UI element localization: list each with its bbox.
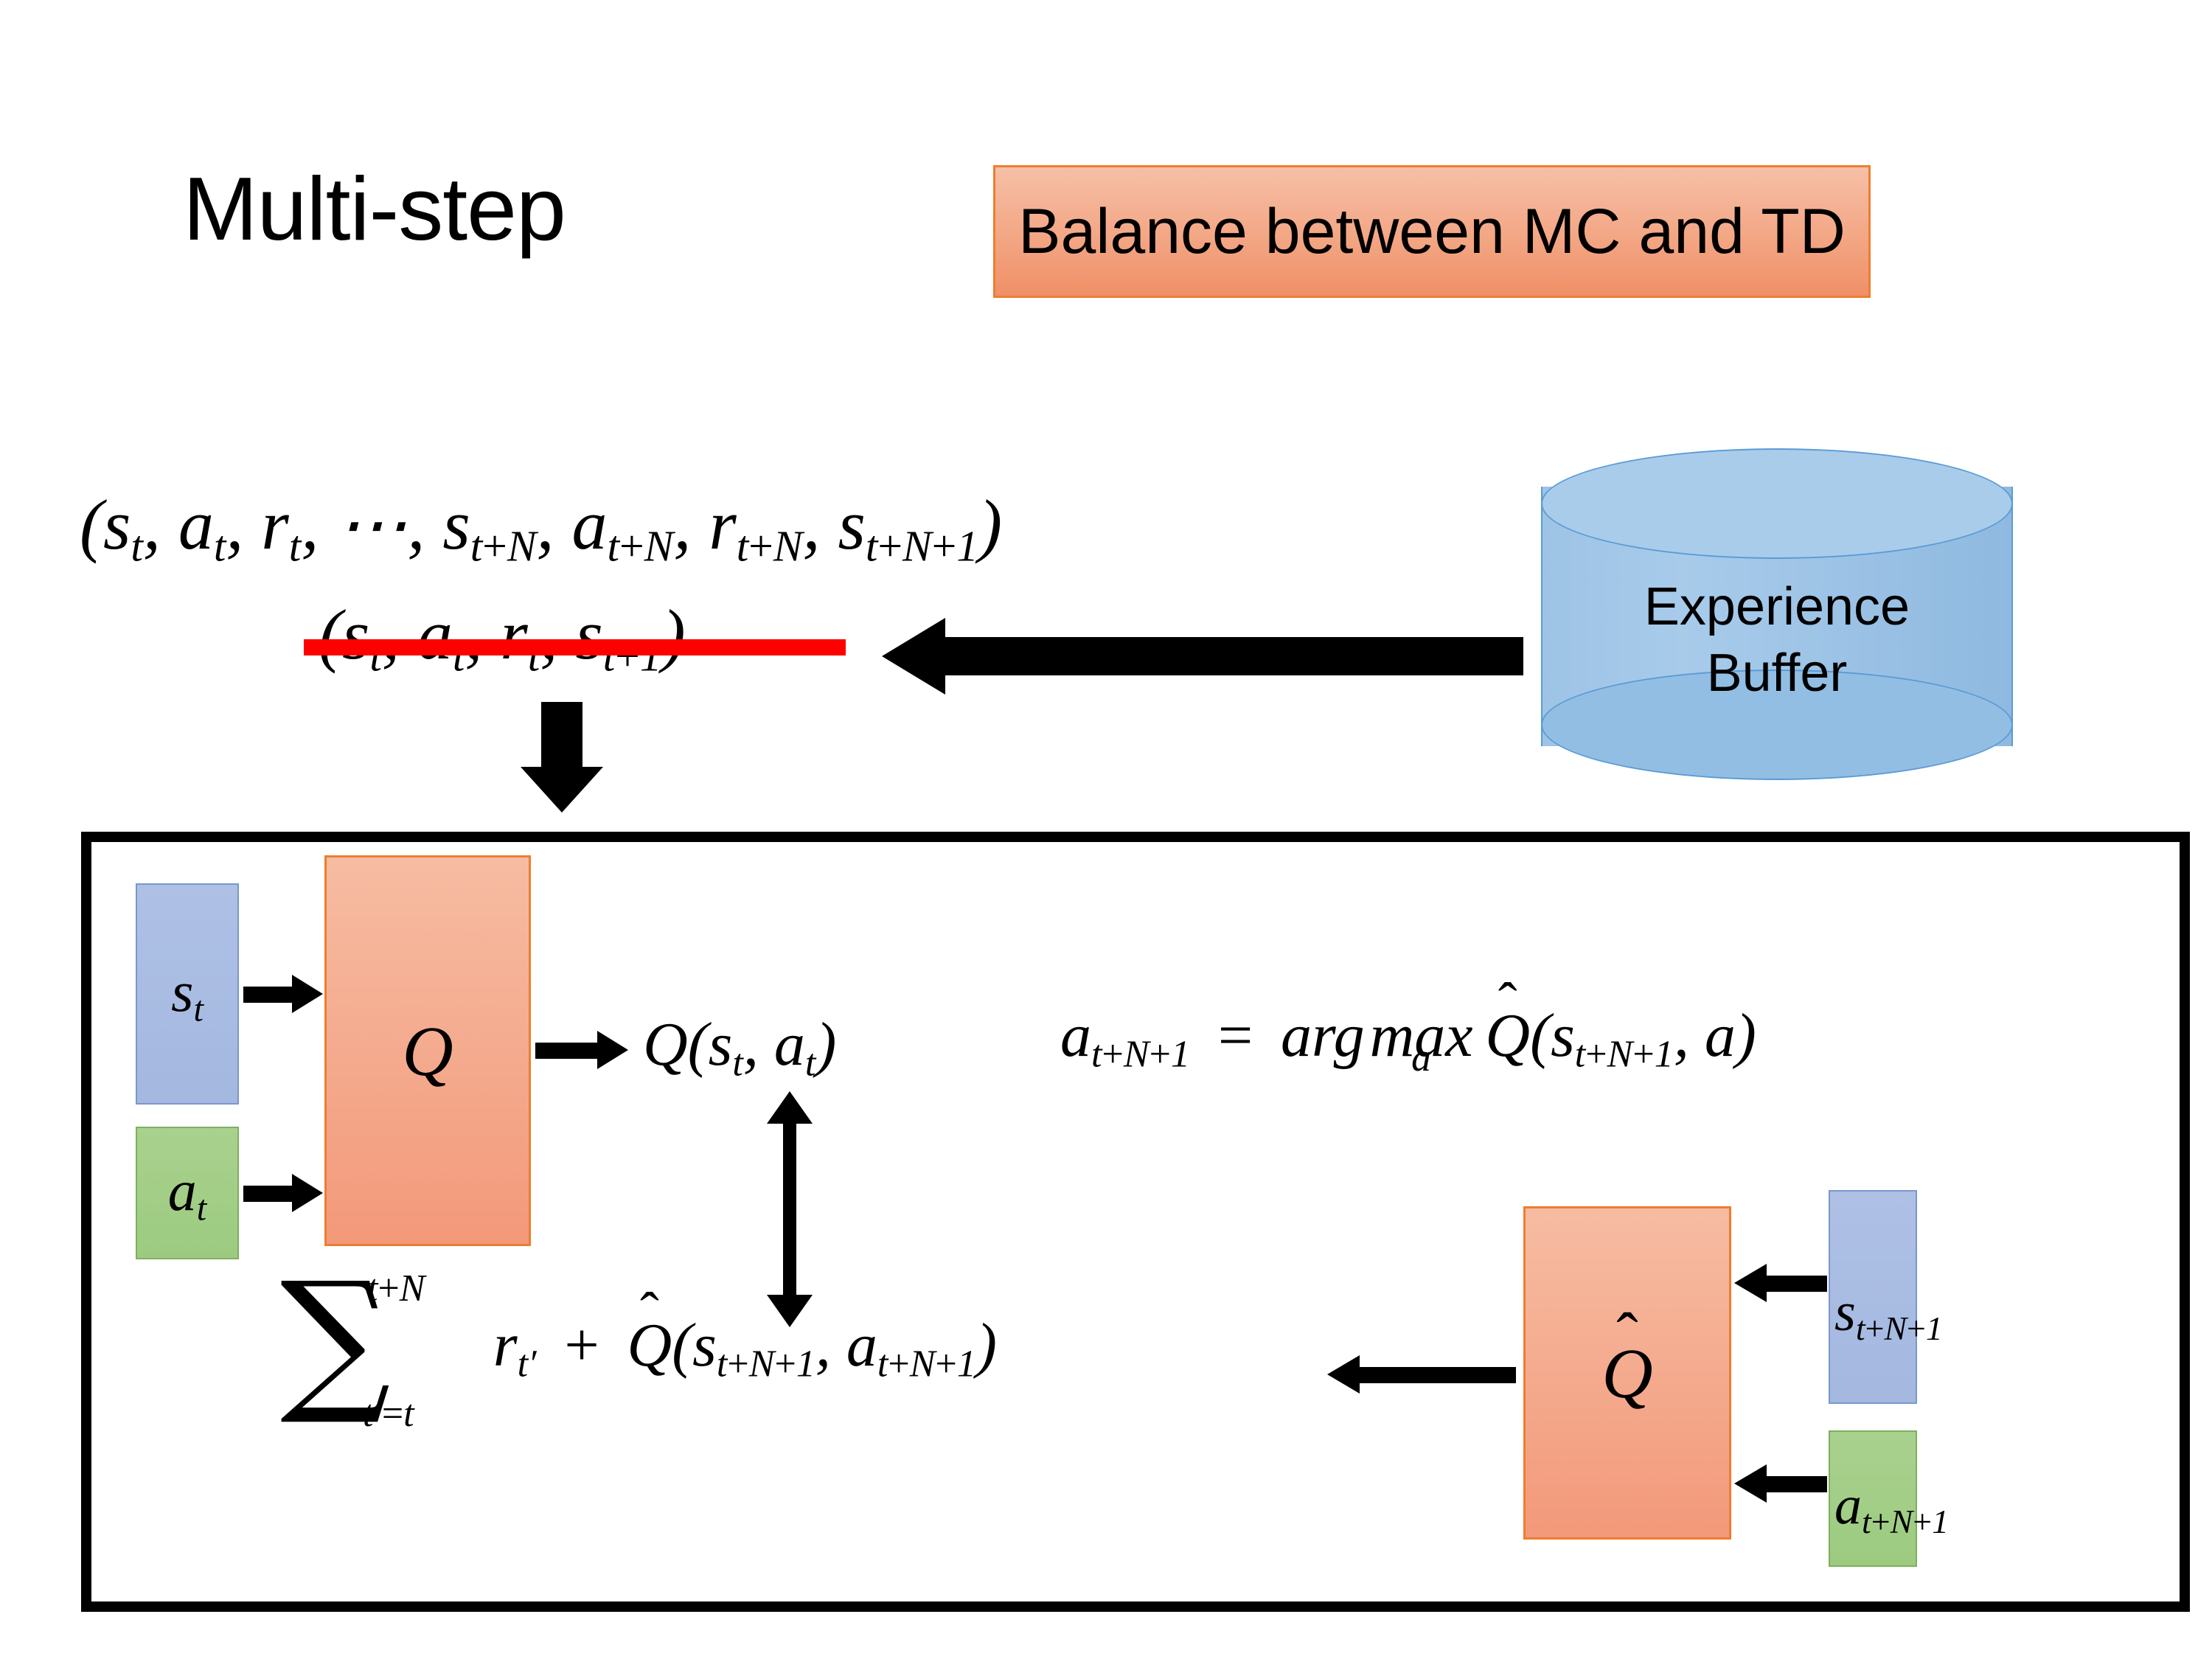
experience-buffer-label: Experience Buffer — [1541, 574, 2013, 706]
buffer-to-sample-arrow — [882, 618, 1523, 695]
state-input-block: st — [136, 883, 239, 1105]
next-action-input-label: at+N+1 — [1834, 1475, 1949, 1541]
target-q-network-block: Q̂ — [1523, 1206, 1731, 1540]
callout-banner: Balance between MC and TD — [993, 165, 1871, 298]
sample-to-network-arrow — [521, 702, 603, 811]
target-value-formula: ∑ t+N t′=t rt′ + Q̂(st+N+1, at+N+1) — [280, 1283, 997, 1394]
target-q-network-label: Q̂ — [1601, 1332, 1652, 1414]
cylinder-top-ellipse — [1541, 448, 2013, 559]
strikethrough-line — [304, 639, 846, 655]
single-step-sample-tuple: (st, at, rt, st+1) — [319, 594, 686, 682]
page-title: Multi-step — [183, 164, 566, 254]
summation-upper-limit: t+N — [367, 1267, 425, 1310]
experience-buffer-label-line2: Buffer — [1541, 640, 2013, 706]
multistep-sample-tuple: (st, at, rt, ⋯, st+N, at+N, rt+N, st+N+1… — [80, 483, 1002, 572]
online-q-network-block: Q — [324, 855, 531, 1246]
qhat-to-target-arrow — [1327, 1355, 1516, 1394]
experience-buffer-label-line1: Experience — [1541, 574, 2013, 640]
single-step-sample-tuple-group: (st, at, rt, st+1) — [319, 594, 686, 682]
state-input-label: st — [171, 959, 204, 1030]
argmax-action-selection-formula: at+N+1 = arg maxa Q̂(st+N+1, a) — [1060, 1000, 1756, 1077]
state-to-q-arrow — [243, 975, 323, 1013]
action-input-block: at — [136, 1127, 239, 1259]
action-input-label: at — [168, 1158, 206, 1229]
summation-lower-limit: t′=t — [363, 1392, 414, 1436]
action-to-q-arrow — [243, 1174, 323, 1212]
q-value-output-expression: Q(st, at) — [643, 1009, 836, 1085]
q-to-output-arrow — [535, 1031, 628, 1069]
state-to-qhat-arrow — [1734, 1264, 1827, 1302]
experience-buffer-cylinder: Experience Buffer — [1541, 448, 2013, 784]
next-state-input-label: st+N+1 — [1834, 1281, 1943, 1348]
online-q-network-label: Q — [402, 1010, 453, 1092]
action-to-qhat-arrow — [1734, 1464, 1827, 1503]
callout-banner-label: Balance between MC and TD — [1018, 195, 1846, 268]
